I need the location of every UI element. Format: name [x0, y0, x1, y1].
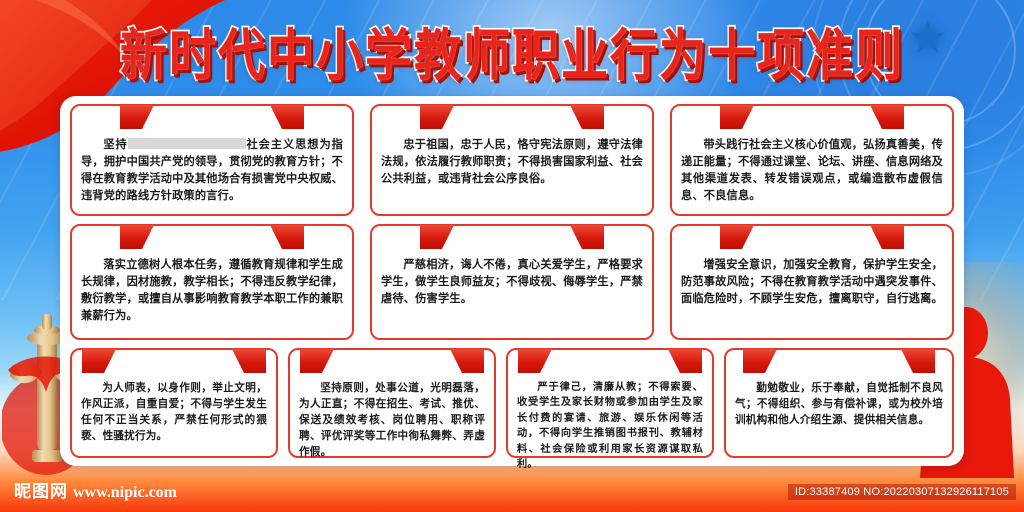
- redacted-block: [128, 138, 246, 149]
- cards-grid: 一、坚定政治方向 坚持社会主义思想为指导，拥护中国共产党的领导，贯彻党的教育方针…: [60, 96, 964, 466]
- card-5: 五、关心爱护学生 严慈相济，诲人不倦，真心关爱学生，严格要求学生，做学生良师益友…: [370, 224, 654, 340]
- card-1-heading: 一、坚定政治方向: [120, 105, 304, 129]
- content-panel: 一、坚定政治方向 坚持社会主义思想为指导，拥护中国共产党的领导，贯彻党的教育方针…: [60, 96, 964, 466]
- card-5-body: 严慈相济，诲人不倦，真心关爱学生，严格要求学生，做学生良师益友；不得歧视、侮辱学…: [381, 256, 643, 307]
- poster-root: ★ 新时代中小学教师职业行为十项准则: [0, 0, 1024, 512]
- site-watermark: 昵图网www.nipic.com: [14, 477, 177, 502]
- poster-title-wrap: 新时代中小学教师职业行为十项准则: [0, 16, 1024, 85]
- card-1-body-before: 坚持: [103, 138, 127, 151]
- card-1: 一、坚定政治方向 坚持社会主义思想为指导，拥护中国共产党的领导，贯彻党的教育方针…: [70, 104, 354, 216]
- site-url: www.nipic.com: [73, 484, 177, 501]
- page-title: 新时代中小学教师职业行为十项准则: [120, 10, 904, 91]
- card-3-body: 带头践行社会主义核心价值观，弘扬真善美，传递正能量；不得通过课堂、论坛、讲座、信…: [681, 136, 943, 204]
- card-7-heading: 七、坚持言行雅正: [82, 349, 266, 373]
- card-9-body: 严于律己，清廉从教；不得索要、收受学生及家长财物或参加由学生及家长付费的宴请、旅…: [517, 380, 703, 472]
- card-7: 七、坚持言行雅正 为人师表，以身作则，举止文明，作风正派，自重自爱；不得与学生发…: [70, 348, 278, 458]
- card-4-heading: 四、潜心教书育人: [120, 225, 304, 249]
- card-6-body: 增强安全意识，加强安全教育，保护学生安全，防范事故风险；不得在教育教学活动中遇突…: [681, 256, 943, 307]
- card-10: 十、规范从教行为 勤勉敬业，乐于奉献，自觉抵制不良风气；不得组织、参与有偿补课，…: [724, 348, 954, 458]
- card-3-heading: 三、传播优秀文化: [720, 105, 904, 129]
- card-8-heading: 八、秉持公平诚信: [300, 349, 484, 373]
- card-1-body: 坚持社会主义思想为指导，拥护中国共产党的领导，贯彻党的教育方针；不得在教育教学活…: [81, 136, 343, 204]
- card-9-heading: 九、坚守廉洁自律: [518, 349, 702, 373]
- card-4: 四、潜心教书育人 落实立德树人根本任务，遵循教育规律和学生成长规律，因材施教，教…: [70, 224, 354, 340]
- site-name-cn: 昵图网: [14, 482, 68, 502]
- footer-bar: 昵图网www.nipic.com ID:33387409 NO:20220307…: [0, 468, 1024, 512]
- card-2: 二、自觉爱国守法 忠于祖国，忠于人民，恪守宪法原则，遵守法律法规，依法履行教师职…: [370, 104, 654, 216]
- asset-id-badge: ID:33387409 NO:20220307132926117105: [788, 484, 1016, 500]
- card-9: 九、坚守廉洁自律 严于律己，清廉从教；不得索要、收受学生及家长财物或参加由学生及…: [506, 348, 714, 458]
- card-2-heading: 二、自觉爱国守法: [420, 105, 604, 129]
- card-8-body: 坚持原则，处事公道，光明磊落，为人正直；不得在招生、考试、推优、保送及绩效考核、…: [299, 380, 485, 460]
- card-2-body: 忠于祖国，忠于人民，恪守宪法原则，遵守法律法规，依法履行教师职责；不得损害国家利…: [381, 136, 643, 187]
- card-10-heading: 十、规范从教行为: [743, 349, 935, 373]
- card-6-heading: 六、加强安全防范: [720, 225, 904, 249]
- card-4-body: 落实立德树人根本任务，遵循教育规律和学生成长规律，因材施教，教学相长；不得违反教…: [81, 256, 343, 324]
- card-7-body: 为人师表，以身作则，举止文明，作风正派，自重自爱；不得与学生发生任何不正当关系，…: [81, 380, 267, 444]
- card-3: 三、传播优秀文化 带头践行社会主义核心价值观，弘扬真善美，传递正能量；不得通过课…: [670, 104, 954, 216]
- card-6: 六、加强安全防范 增强安全意识，加强安全教育，保护学生安全，防范事故风险；不得在…: [670, 224, 954, 340]
- card-5-heading: 五、关心爱护学生: [420, 225, 604, 249]
- card-8: 八、秉持公平诚信 坚持原则，处事公道，光明磊落，为人正直；不得在招生、考试、推优…: [288, 348, 496, 458]
- card-10-body: 勤勉敬业，乐于奉献，自觉抵制不良风气；不得组织、参与有偿补课，或为校外培训机构和…: [735, 380, 943, 428]
